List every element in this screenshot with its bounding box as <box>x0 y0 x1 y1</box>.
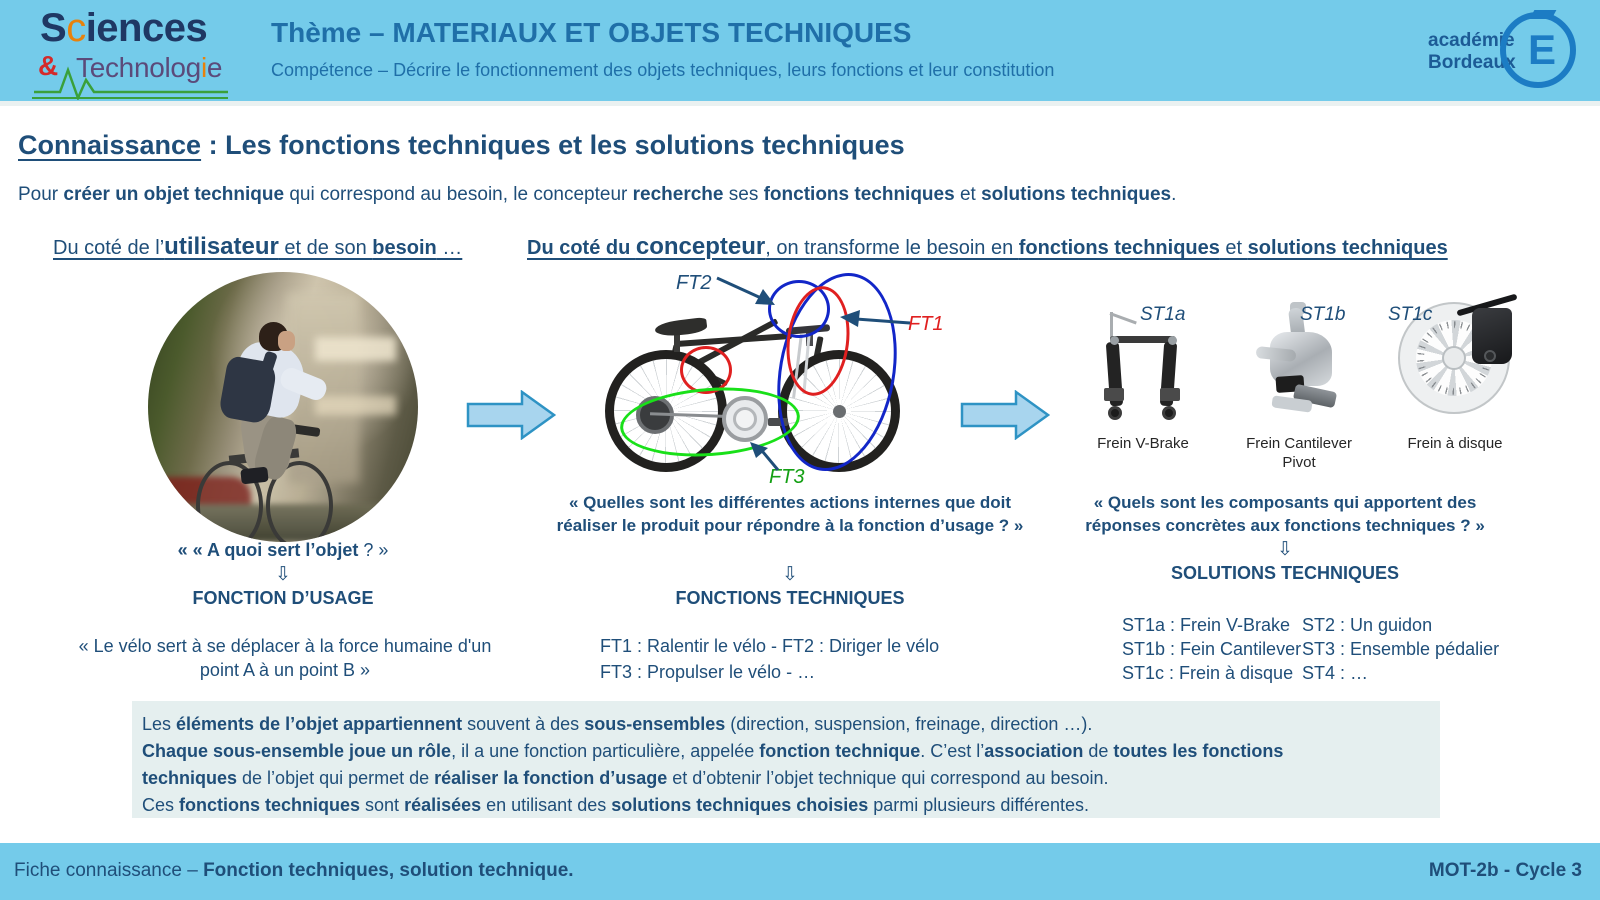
st-row: ST1b : Fein Cantilever ST3 : Ensemble pé… <box>1122 637 1522 661</box>
intro-t4: et <box>955 184 981 205</box>
s2-c: . C’est l’ <box>920 741 984 761</box>
s2-b4: toutes les fonctions <box>1113 741 1283 761</box>
s4-c: sont <box>360 795 404 815</box>
page-title-rest: : Les fonctions techniques et les soluti… <box>201 130 905 160</box>
footer-reference: MOT-2b - Cycle 3 <box>1429 860 1582 882</box>
sciences-technologie-logo: Sciences & Technologie <box>18 4 233 96</box>
user-down-arrow-icon: ⇩ <box>148 563 418 586</box>
st-row-1-right: ST3 : Ensemble pédalier <box>1302 637 1522 661</box>
summary-line-2: Chaque sous-ensemble joue un rôle, il a … <box>142 738 1430 765</box>
v-brake-boss-right <box>1162 406 1176 420</box>
footer-left-text: Fiche connaissance – Fonction techniques… <box>14 860 574 882</box>
intro-b2: recherche <box>633 184 724 205</box>
ft1-label: FT1 <box>908 313 944 336</box>
intro-t1: Pour <box>18 184 63 205</box>
designer-head-t1: Du coté du <box>527 237 636 259</box>
flow-arrow-right-1 <box>466 390 556 440</box>
usage-detail-line2: point A à un point B » <box>60 658 510 682</box>
ft-list-line2: FT3 : Propulser le vélo - … <box>600 659 1040 685</box>
st-row-2-right: ST4 : … <box>1302 661 1522 685</box>
page-header: Sciences & Technologie Thème – MATERIAUX… <box>0 0 1600 101</box>
solutions-down-arrow-icon: ⇩ <box>1055 538 1515 561</box>
st1c-tag: ST1c <box>1388 304 1432 326</box>
designer-head-t2: , on transforme le besoin en <box>765 237 1018 259</box>
s1-a: Les <box>142 714 176 734</box>
s4-b3: solutions techniques choisies <box>611 795 868 815</box>
ft1-callout-arrow-icon <box>838 307 912 333</box>
user-column-heading: Du coté de l’utilisateur et de son besoi… <box>53 233 462 261</box>
s3-a: de l’objet qui permet de <box>237 768 434 788</box>
designer-head-b2: solutions techniques <box>1248 237 1448 259</box>
v-brake-pad-right <box>1160 388 1180 401</box>
designer-head-t3: et <box>1220 237 1248 259</box>
designer-head-b1: fonctions techniques <box>1019 237 1220 259</box>
s1-d: (direction, suspension, freinage, direct… <box>725 714 1092 734</box>
designer-down-arrow-icon: ⇩ <box>540 563 1040 586</box>
designer-head-big: concepteur <box>636 233 765 260</box>
solutions-question: « Quels sont les composants qui apporten… <box>1055 491 1515 537</box>
academie-monogram: E <box>1528 30 1556 70</box>
header-divider <box>0 101 1600 106</box>
s1-b1: éléments de l’objet appartiennent <box>176 714 462 734</box>
ft3-callout-arrow-icon <box>748 440 786 474</box>
fonctions-techniques-label: FONCTIONS TECHNIQUES <box>540 588 1040 609</box>
st1b-caption-line2: Pivot <box>1224 453 1374 472</box>
designer-column-heading: Du coté du concepteur, on transforme le … <box>527 233 1448 261</box>
bike-saddle <box>654 317 707 338</box>
st1b-tag: ST1b <box>1300 304 1345 326</box>
ft2-label: FT2 <box>676 272 712 295</box>
v-brake-pad-left <box>1104 388 1124 401</box>
fonction-usage-detail: « Le vélo sert à se déplacer à la force … <box>60 634 510 682</box>
summary-line-3: techniques de l’objet qui permet de réal… <box>142 765 1430 792</box>
photo-rider-face <box>278 331 295 351</box>
s1-b2: sous-ensembles <box>584 714 725 734</box>
user-head-t1: Du coté de l’ <box>53 237 164 259</box>
solutions-techniques-list: ST1a : Frein V-Brake ST2 : Un guidon ST1… <box>1122 613 1522 685</box>
s2-b2: fonction technique <box>759 741 920 761</box>
s3-c: et d’obtenir l’objet technique qui corre… <box>667 768 1108 788</box>
user-question-rest: ? » <box>358 540 388 560</box>
logo-underline <box>32 97 228 99</box>
user-head-b: besoin <box>372 237 436 259</box>
brake-solutions-gallery: ST1a Frein V-Brake ST1b Frein Cantilever… <box>1060 288 1530 458</box>
solutions-techniques-label: SOLUTIONS TECHNIQUES <box>1055 563 1515 584</box>
st1c-caption: Frein à disque <box>1380 434 1530 453</box>
photo-rider-figure <box>186 315 353 536</box>
st1a-caption: Frein V-Brake <box>1068 434 1218 453</box>
s2-b1: Chaque sous-ensemble joue un rôle <box>142 741 451 761</box>
user-question: « « A quoi sert l’objet ? » <box>148 540 418 561</box>
s4-a: Ces <box>142 795 179 815</box>
page-footer: Fiche connaissance – Fonction techniques… <box>0 843 1600 900</box>
usage-detail-line1: « Le vélo sert à se déplacer à la force … <box>60 634 510 658</box>
st1b-caption: Frein Cantilever Pivot <box>1224 434 1374 472</box>
v-brake-cable-link <box>1109 312 1136 324</box>
ft-list-line1: FT1 : Ralentir le vélo - FT2 : Diriger l… <box>600 633 1040 659</box>
user-head-t3: … <box>437 237 463 259</box>
footer-left-normal: Fiche connaissance – <box>14 860 203 881</box>
intro-t2: qui correspond au besoin, le concepteur <box>284 184 633 205</box>
intro-b4: solutions techniques <box>981 184 1171 205</box>
academie-bordeaux-logo: académie Bordeaux E <box>1428 8 1578 94</box>
s4-d: en utilisant des <box>481 795 611 815</box>
user-question-bold: « A quoi sert l’objet <box>193 540 359 560</box>
slide-page: Sciences & Technologie Thème – MATERIAUX… <box>0 0 1600 900</box>
heartbeat-wave-icon <box>32 62 228 100</box>
competence-subtitle: Compétence – Décrire le fonctionnement d… <box>271 60 1054 81</box>
user-head-big: utilisateur <box>164 233 279 260</box>
v-brake-pivot-right <box>1168 336 1177 345</box>
summary-line-4: Ces fonctions techniques sont réalisées … <box>142 792 1430 819</box>
st1a-tag: ST1a <box>1140 304 1185 326</box>
v-brake-pivot-left <box>1110 336 1119 345</box>
intro-b1: créer un objet technique <box>63 184 284 205</box>
st-row: ST1a : Frein V-Brake ST2 : Un guidon <box>1122 613 1522 637</box>
designer-question: « Quelles sont les différentes actions i… <box>540 491 1040 537</box>
disc-brake-bolt <box>1484 350 1496 362</box>
st-row-0-right: ST2 : Un guidon <box>1302 613 1522 637</box>
ft2-callout-arrow-icon <box>715 274 777 308</box>
v-brake-illustration <box>1098 310 1190 428</box>
theme-title: Thème – MATERIAUX ET OBJETS TECHNIQUES <box>271 17 911 49</box>
fonction-usage-label: FONCTION D’USAGE <box>148 588 418 609</box>
summary-box: Les éléments de l’objet appartiennent so… <box>132 701 1440 818</box>
page-title: Connaissance : Les fonctions techniques … <box>18 130 905 161</box>
photo-rider-shoe <box>240 467 268 485</box>
page-title-label: Connaissance <box>18 130 201 160</box>
intro-paragraph: Pour créer un objet technique qui corres… <box>18 184 1176 206</box>
st-row-2-left: ST1c : Frein à disque <box>1122 661 1302 685</box>
s4-b2: réalisées <box>404 795 481 815</box>
intro-t3: ses <box>723 184 763 205</box>
disc-rotor-hub <box>1442 346 1466 370</box>
s2-a: , il a une fonction particulière, appelé… <box>451 741 759 761</box>
cyclist-photo <box>148 272 418 542</box>
intro-b3: fonctions techniques <box>764 184 955 205</box>
s4-e: parmi plusieurs différentes. <box>868 795 1089 815</box>
s3-b1: techniques <box>142 768 237 788</box>
s4-b1: fonctions techniques <box>179 795 360 815</box>
v-brake-boss-left <box>1108 406 1122 420</box>
st-row-1-left: ST1b : Fein Cantilever <box>1122 637 1302 661</box>
st1b-caption-line1: Frein Cantilever <box>1224 434 1374 453</box>
s1-c: souvent à des <box>462 714 584 734</box>
s2-d: de <box>1083 741 1113 761</box>
st-row-0-left: ST1a : Frein V-Brake <box>1122 613 1302 637</box>
s3-b2: réaliser la fonction d’usage <box>434 768 667 788</box>
st-row: ST1c : Frein à disque ST4 : … <box>1122 661 1522 685</box>
intro-t5: . <box>1171 184 1176 205</box>
logo-sciences-text: Sciences <box>40 6 207 51</box>
fonctions-techniques-list: FT1 : Ralentir le vélo - FT2 : Diriger l… <box>600 633 1040 685</box>
summary-line-1: Les éléments de l’objet appartiennent so… <box>142 711 1430 738</box>
s2-b3: association <box>984 741 1083 761</box>
flow-arrow-right-2 <box>960 390 1050 440</box>
user-head-t2: et de son <box>279 237 372 259</box>
footer-left-bold: Fonction techniques, solution technique. <box>203 860 574 881</box>
